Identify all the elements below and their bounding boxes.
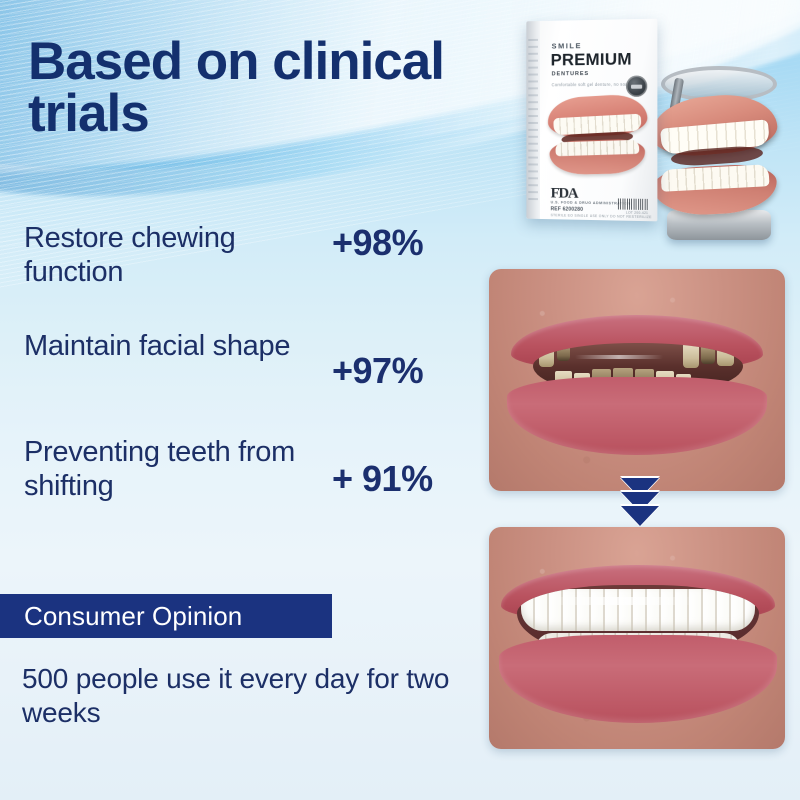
benefit-list: Restore chewing function +98% Maintain f… (0, 222, 470, 522)
advertisement-canvas: Based on clinical trials Restore chewing… (0, 0, 800, 800)
before-tooth (717, 344, 734, 366)
photo-lower-teeth (555, 140, 639, 156)
consumer-opinion-banner: Consumer Opinion (0, 594, 332, 638)
before-tooth (683, 344, 699, 368)
product-reference-code: REF 6200280 (551, 206, 583, 213)
before-highlight (575, 355, 663, 359)
after-upper-teeth (521, 589, 755, 631)
after-teeth-gloss (547, 597, 697, 605)
articulator-base (667, 210, 771, 240)
benefit-percentage: +98% (332, 222, 423, 264)
benefit-label: Restore chewing function (24, 222, 324, 289)
barcode-label: LOT 200-421 (626, 211, 648, 215)
benefit-label: Maintain facial shape (24, 330, 324, 364)
before-tooth (557, 344, 570, 361)
product-box-spine (526, 21, 540, 219)
benefit-percentage: + 91% (332, 458, 433, 500)
consumer-opinion-body: 500 people use it every day for two week… (22, 662, 462, 729)
spine-texture (528, 39, 538, 201)
before-tooth (539, 345, 554, 367)
before-photo (489, 269, 785, 491)
product-box: SMILE PREMIUM DENTURES Comfortable soft … (526, 19, 657, 222)
benefit-row: Preventing teeth from shifting + 91% (0, 422, 470, 508)
product-subtitle: DENTURES (552, 71, 589, 77)
benefit-percentage: +97% (332, 350, 423, 392)
barcode-icon (618, 198, 648, 210)
down-chevron-arrows (612, 478, 668, 550)
benefit-row: Maintain facial shape +97% (0, 322, 470, 408)
denture-product-photo (542, 94, 653, 181)
after-photo (489, 527, 785, 749)
before-tooth (701, 345, 715, 364)
product-showcase: SMILE PREMIUM DENTURES Comfortable soft … (505, 8, 800, 240)
benefit-row: Restore chewing function +98% (0, 222, 470, 308)
chevron-down-icon (621, 506, 659, 526)
denture-model-on-articulator (645, 62, 793, 240)
product-brand-name: PREMIUM (551, 49, 632, 70)
product-brand-small: SMILE (552, 41, 582, 50)
consumer-opinion-label: Consumer Opinion (24, 601, 242, 632)
page-title: Based on clinical trials (28, 36, 498, 140)
benefit-label: Preventing teeth from shifting (24, 436, 324, 503)
